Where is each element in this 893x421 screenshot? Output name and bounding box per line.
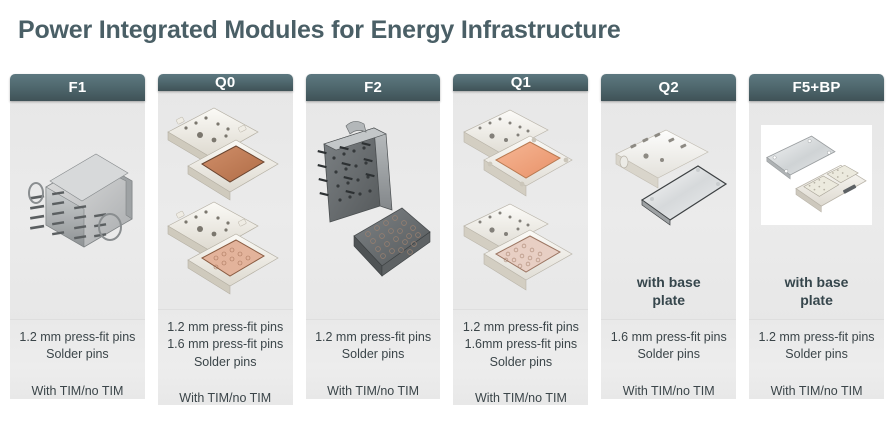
card-body-q1: 1.2 mm press-fit pins 1.6mm press-fit pi… — [453, 91, 588, 405]
pin-spec-line: 1.6mm press-fit pins — [453, 336, 588, 353]
card-header-q0[interactable]: Q0 — [158, 74, 293, 91]
card-text-f5bp: 1.2 mm press-fit pins Solder pins With T… — [749, 319, 884, 399]
pin-spec-list-f5bp: 1.2 mm press-fit pins Solder pins — [749, 329, 884, 364]
module-card-f1[interactable]: F1 — [10, 74, 145, 399]
pin-spec-line: Solder pins — [306, 346, 441, 363]
pin-spec-line: Solder pins — [158, 354, 293, 371]
pin-spec-list-q1: 1.2 mm press-fit pins 1.6mm press-fit pi… — [453, 319, 588, 371]
tim-option-f5bp: With TIM/no TIM — [749, 384, 884, 398]
page-title: Power Integrated Modules for Energy Infr… — [18, 16, 621, 45]
card-header-f5bp[interactable]: F5+BP — [749, 74, 884, 101]
product-image-q2: with base plate — [601, 101, 736, 319]
module-card-f5bp[interactable]: F5+BP — [749, 74, 884, 399]
tim-option-f2: With TIM/no TIM — [306, 384, 441, 398]
pin-spec-line: Solder pins — [749, 346, 884, 363]
pin-spec-list-f1: 1.2 mm press-fit pins Solder pins — [10, 329, 145, 364]
baseplate-label-q2: with base plate — [601, 274, 736, 309]
product-image-q1 — [453, 91, 588, 309]
module-card-q0[interactable]: Q0 — [158, 74, 293, 399]
module-q0-white-copper-pair-icon — [162, 100, 288, 300]
pin-spec-line: 1.6 mm press-fit pins — [601, 329, 736, 346]
card-text-f1: 1.2 mm press-fit pins Solder pins With T… — [10, 319, 145, 399]
pin-spec-list-q2: 1.6 mm press-fit pins Solder pins — [601, 329, 736, 364]
product-image-f1 — [10, 101, 145, 319]
tim-option-f1: With TIM/no TIM — [10, 384, 145, 398]
tim-option-q1: With TIM/no TIM — [453, 391, 588, 405]
pin-spec-list-f2: 1.2 mm press-fit pins Solder pins — [306, 329, 441, 364]
tim-option-q2: With TIM/no TIM — [601, 384, 736, 398]
pin-spec-line: 1.6 mm press-fit pins — [158, 336, 293, 353]
pin-spec-line: 1.2 mm press-fit pins — [453, 319, 588, 336]
card-text-f2: 1.2 mm press-fit pins Solder pins With T… — [306, 319, 441, 399]
card-header-q1[interactable]: Q1 — [453, 74, 588, 91]
card-text-q0: 1.2 mm press-fit pins 1.6 mm press-fit p… — [158, 309, 293, 405]
pin-spec-line: 1.2 mm press-fit pins — [158, 319, 293, 336]
module-f5bp-white-with-metal-baseplate-icon — [761, 127, 872, 223]
module-card-row: F1 — [10, 74, 884, 399]
pin-spec-line: 1.2 mm press-fit pins — [749, 329, 884, 346]
module-card-f2[interactable]: F2 — [306, 74, 441, 399]
module-q1-white-orange-pair-icon — [458, 100, 584, 300]
pin-spec-line: 1.2 mm press-fit pins — [306, 329, 441, 346]
card-text-q2: 1.6 mm press-fit pins Solder pins With T… — [601, 319, 736, 399]
card-body-f2: 1.2 mm press-fit pins Solder pins With T… — [306, 101, 441, 399]
card-body-f5bp: with base plate 1.2 mm press-fit pins So… — [749, 101, 884, 399]
card-body-q2: with base plate 1.6 mm press-fit pins So… — [601, 101, 736, 399]
card-body-f1: 1.2 mm press-fit pins Solder pins With T… — [10, 101, 145, 399]
baseplate-label-f5bp: with base plate — [749, 274, 884, 309]
module-f1-gray-press-fit-icon — [14, 115, 140, 305]
card-header-f1[interactable]: F1 — [10, 74, 145, 101]
card-header-f2[interactable]: F2 — [306, 74, 441, 101]
module-card-q1[interactable]: Q1 — [453, 74, 588, 399]
card-text-q1: 1.2 mm press-fit pins 1.6mm press-fit pi… — [453, 309, 588, 405]
pin-spec-line: Solder pins — [453, 354, 588, 371]
tim-option-q0: With TIM/no TIM — [158, 391, 293, 405]
product-image-f2 — [306, 101, 441, 319]
module-card-q2[interactable]: Q2 — [601, 74, 736, 399]
pin-spec-line: 1.2 mm press-fit pins — [10, 329, 145, 346]
pin-spec-line: Solder pins — [601, 346, 736, 363]
pin-spec-list-q0: 1.2 mm press-fit pins 1.6 mm press-fit p… — [158, 319, 293, 371]
product-image-q0 — [158, 91, 293, 309]
product-image-f5bp: with base plate — [749, 101, 884, 319]
image-white-frame — [761, 125, 872, 225]
slide-root: Power Integrated Modules for Energy Infr… — [0, 0, 893, 421]
card-body-q0: 1.2 mm press-fit pins 1.6 mm press-fit p… — [158, 91, 293, 405]
module-q2-white-with-metal-baseplate-icon — [606, 120, 732, 252]
card-header-q2[interactable]: Q2 — [601, 74, 736, 101]
module-f2-dark-honeycomb-pair-icon — [310, 110, 436, 310]
pin-spec-line: Solder pins — [10, 346, 145, 363]
